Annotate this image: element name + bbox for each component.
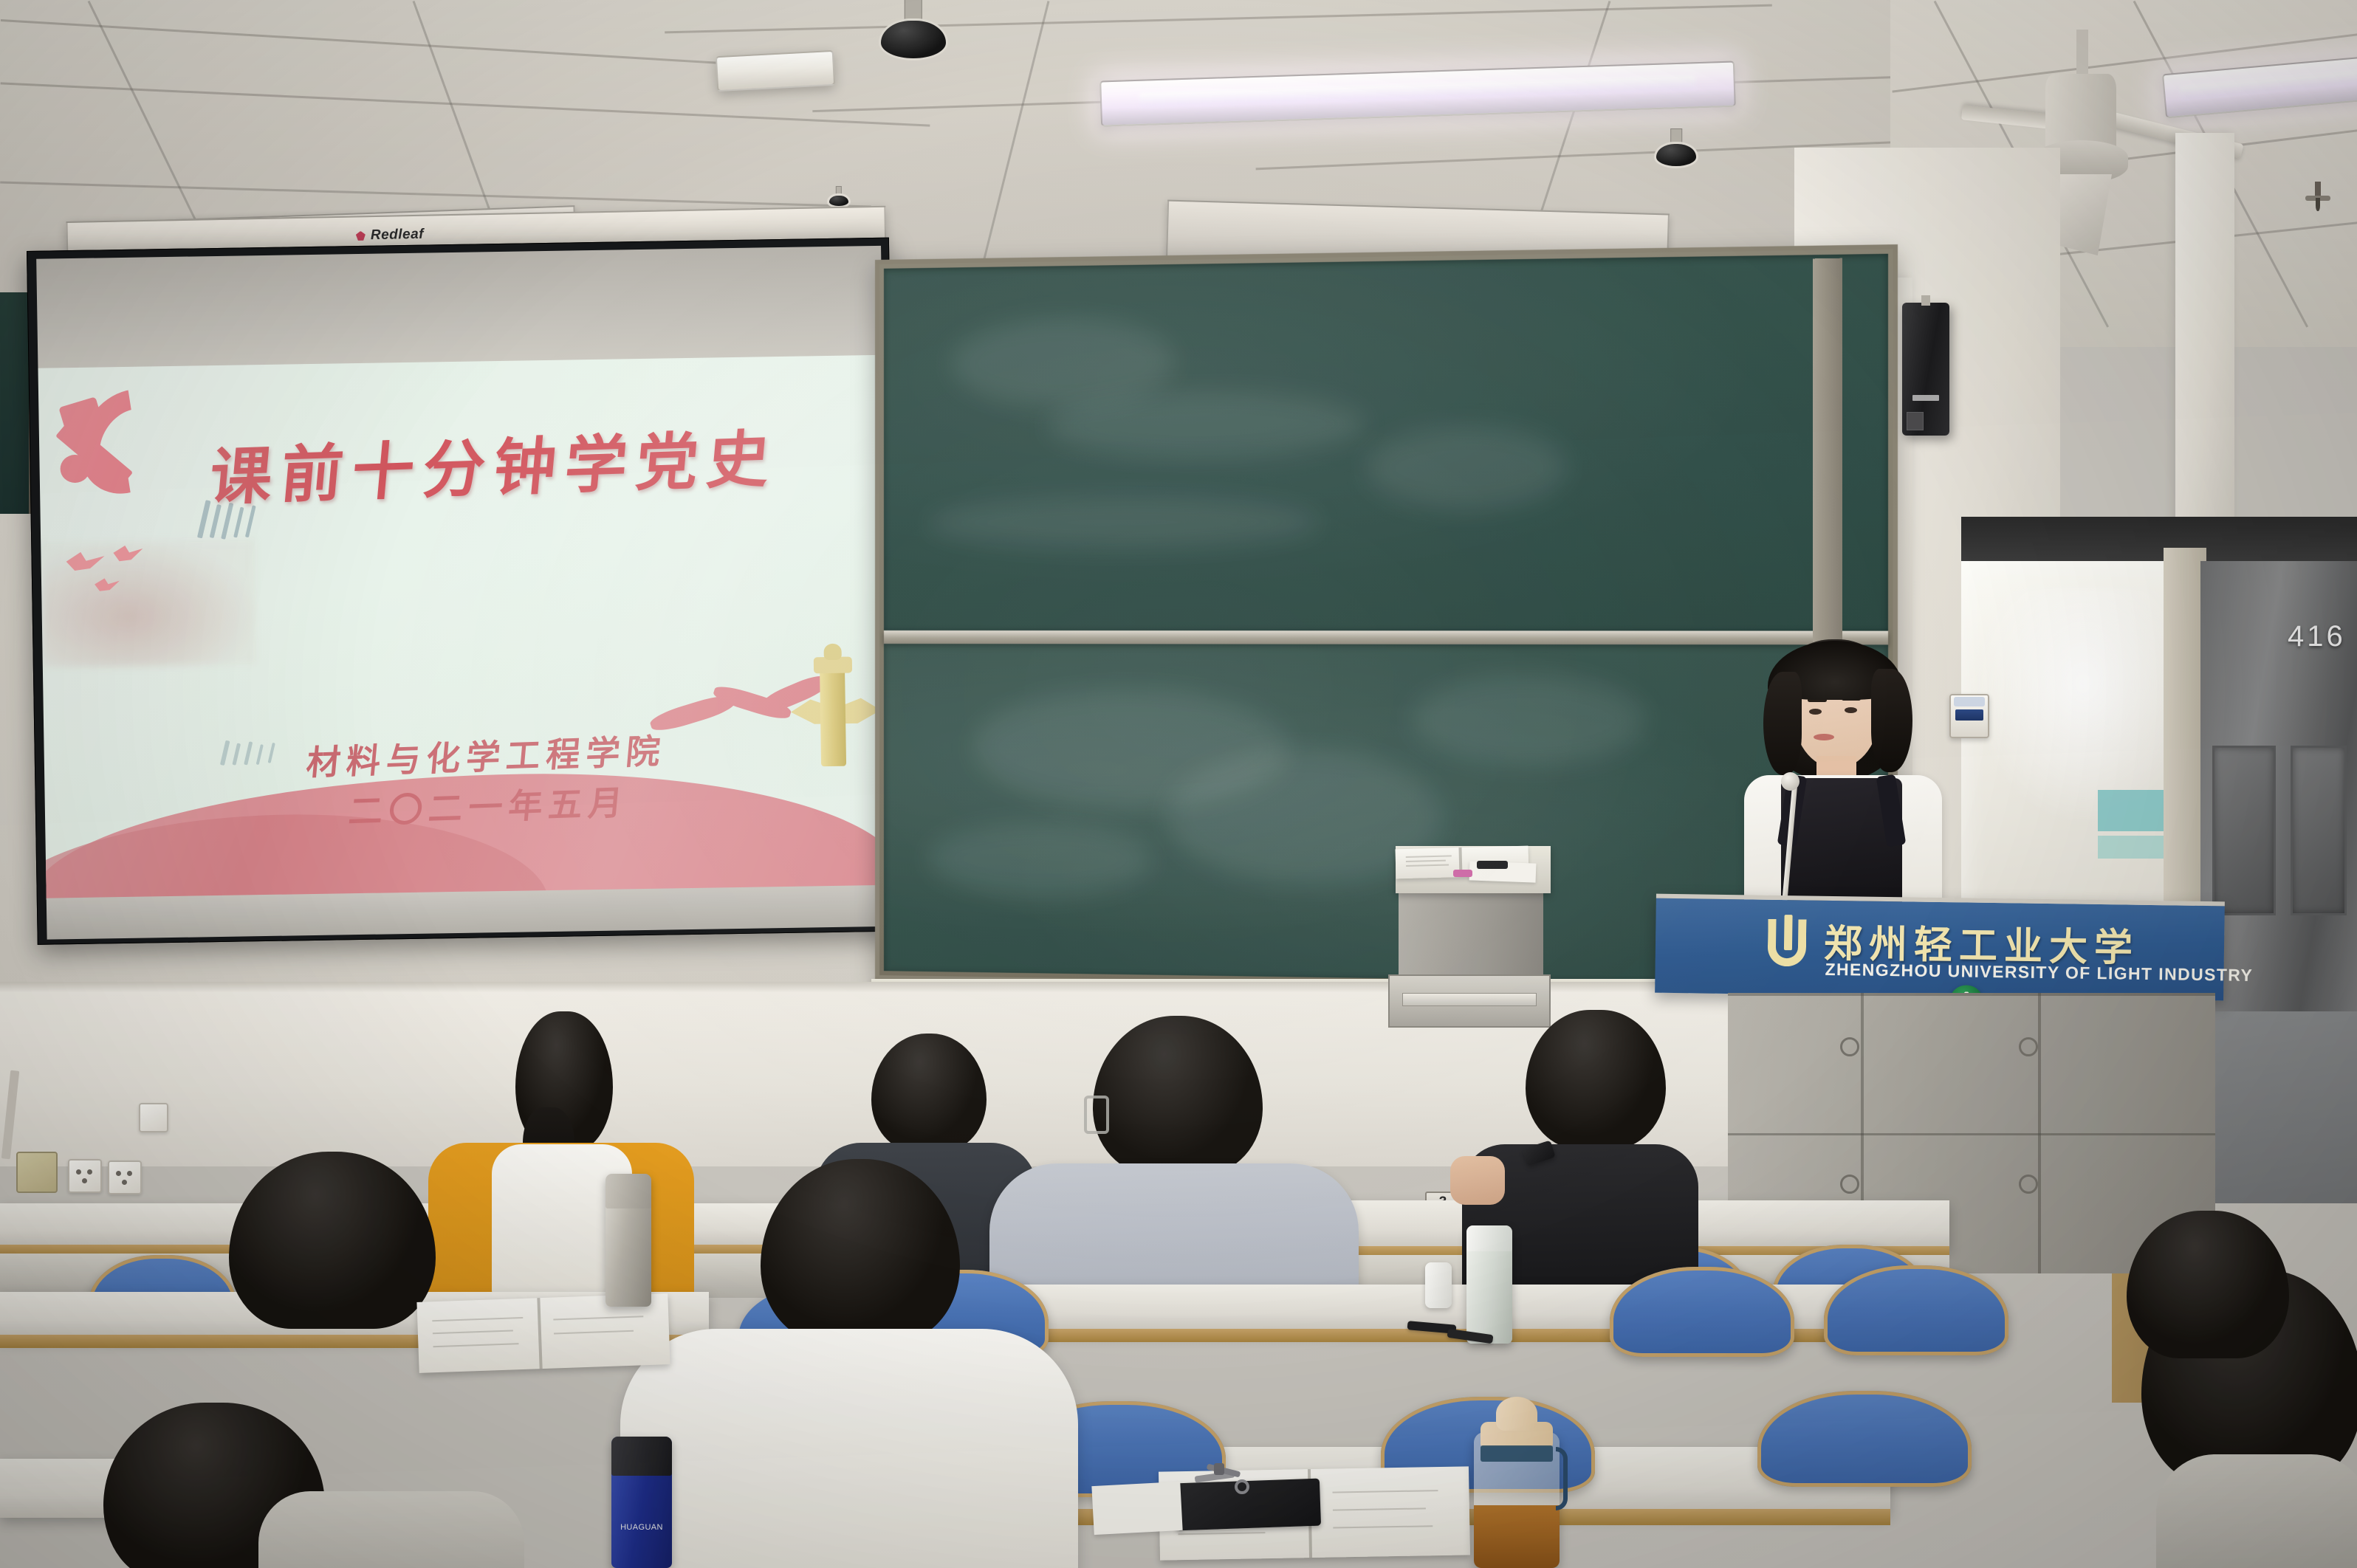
cpc-emblem-icon bbox=[58, 382, 184, 509]
white-tumbler[interactable] bbox=[1425, 1262, 1452, 1308]
chalk-rail bbox=[884, 630, 1888, 644]
brush-stroke-decoration bbox=[268, 743, 275, 763]
microphone-head-icon bbox=[1781, 772, 1800, 791]
student-arm bbox=[1450, 1156, 1505, 1205]
lectern-banner: 郑州轻工业大学 ZHENGZHOU UNIVERSITY OF LIGHT IN… bbox=[1655, 894, 2225, 1001]
student-white-tee bbox=[620, 1329, 1078, 1568]
redleaf-brand-logo: Redleaf bbox=[356, 227, 425, 244]
door-number-label: 416 bbox=[2288, 620, 2346, 653]
ceiling-sensor-icon bbox=[827, 186, 851, 208]
classroom-photo: Redleaf bbox=[0, 0, 2357, 1568]
thermos-brand-label: HUAGUAN bbox=[617, 1523, 666, 1538]
presenter-hair-left bbox=[1763, 672, 1802, 775]
brush-stroke-decoration bbox=[256, 744, 264, 765]
student-hair bbox=[2127, 1211, 2289, 1358]
slide-subtitle-date: 二〇二一年五月 bbox=[347, 776, 631, 834]
bottle-cap bbox=[1496, 1397, 1537, 1431]
student-front-left-shoulder bbox=[258, 1491, 524, 1568]
student-bottom-left bbox=[229, 1152, 436, 1329]
wall-speaker bbox=[1902, 303, 1949, 436]
bottle-strap bbox=[1556, 1447, 1568, 1510]
screen-blank-top bbox=[36, 246, 882, 370]
student-white-tee-front bbox=[620, 1159, 1078, 1568]
student-hair bbox=[871, 1034, 987, 1152]
presentation-slide: 课前十分钟学党史 材料与化学工程学院 二〇二一年五月 bbox=[38, 355, 891, 900]
power-outlet-2[interactable] bbox=[108, 1160, 142, 1194]
huabiao-column-icon bbox=[737, 650, 879, 793]
brush-stroke-decoration bbox=[244, 741, 253, 765]
blackboard-upper-panel bbox=[884, 254, 1888, 631]
fire-sprinkler-icon bbox=[2305, 182, 2330, 211]
chair-rim bbox=[1610, 1267, 1794, 1357]
university-name-en: ZHENGZHOU UNIVERSITY OF LIGHT INDUSTRY bbox=[1825, 960, 2253, 986]
keyring[interactable] bbox=[1190, 1463, 1261, 1496]
leaf-icon bbox=[356, 231, 366, 241]
power-outlet-1[interactable] bbox=[68, 1159, 102, 1193]
projection-screen: 课前十分钟学党史 材料与化学工程学院 二〇二一年五月 bbox=[27, 238, 900, 945]
black-marker bbox=[1477, 861, 1508, 869]
chair-rim bbox=[1824, 1265, 2008, 1355]
wall-switch[interactable] bbox=[139, 1103, 168, 1132]
student-grey-shirt-right bbox=[2156, 1454, 2357, 1568]
bottle-band bbox=[1481, 1445, 1552, 1462]
presenter-at-lectern bbox=[1740, 639, 1946, 912]
white-thermos[interactable] bbox=[1466, 1225, 1512, 1344]
chair-rim bbox=[1757, 1391, 1972, 1487]
university-logo-icon bbox=[1763, 915, 1811, 973]
student-hair bbox=[1093, 1016, 1263, 1175]
pink-highlighter bbox=[1453, 870, 1472, 877]
wall-rail bbox=[0, 982, 1861, 992]
tea-bottle[interactable] bbox=[1474, 1432, 1560, 1568]
student-right-back bbox=[2127, 1211, 2289, 1358]
door-transom bbox=[1961, 517, 2357, 564]
electrical-breaker-box bbox=[1949, 694, 1989, 738]
student-hair bbox=[1526, 1010, 1666, 1150]
presenter-hair-right bbox=[1871, 669, 1912, 772]
dome-security-camera-2 bbox=[1654, 128, 1698, 168]
student-front-left bbox=[103, 1403, 517, 1568]
loose-papers bbox=[1091, 1482, 1182, 1535]
redleaf-brand-label: Redleaf bbox=[371, 227, 425, 244]
brush-stroke-decoration bbox=[220, 740, 230, 766]
glasses-icon bbox=[1084, 1096, 1109, 1134]
power-outlet-brown[interactable] bbox=[16, 1152, 58, 1193]
left-blackboard-edge bbox=[0, 292, 31, 514]
silver-thermos[interactable] bbox=[605, 1174, 651, 1307]
dome-security-camera bbox=[879, 0, 948, 61]
fluorescent-tube-light-3 bbox=[716, 50, 835, 92]
student-hair bbox=[761, 1159, 960, 1344]
slide-title: 课前十分钟学党史 bbox=[207, 409, 783, 517]
brush-stroke-decoration bbox=[232, 743, 241, 765]
student-hair bbox=[229, 1152, 436, 1329]
tea-liquid bbox=[1474, 1505, 1560, 1568]
blue-thermos[interactable]: HUAGUAN bbox=[611, 1437, 672, 1568]
